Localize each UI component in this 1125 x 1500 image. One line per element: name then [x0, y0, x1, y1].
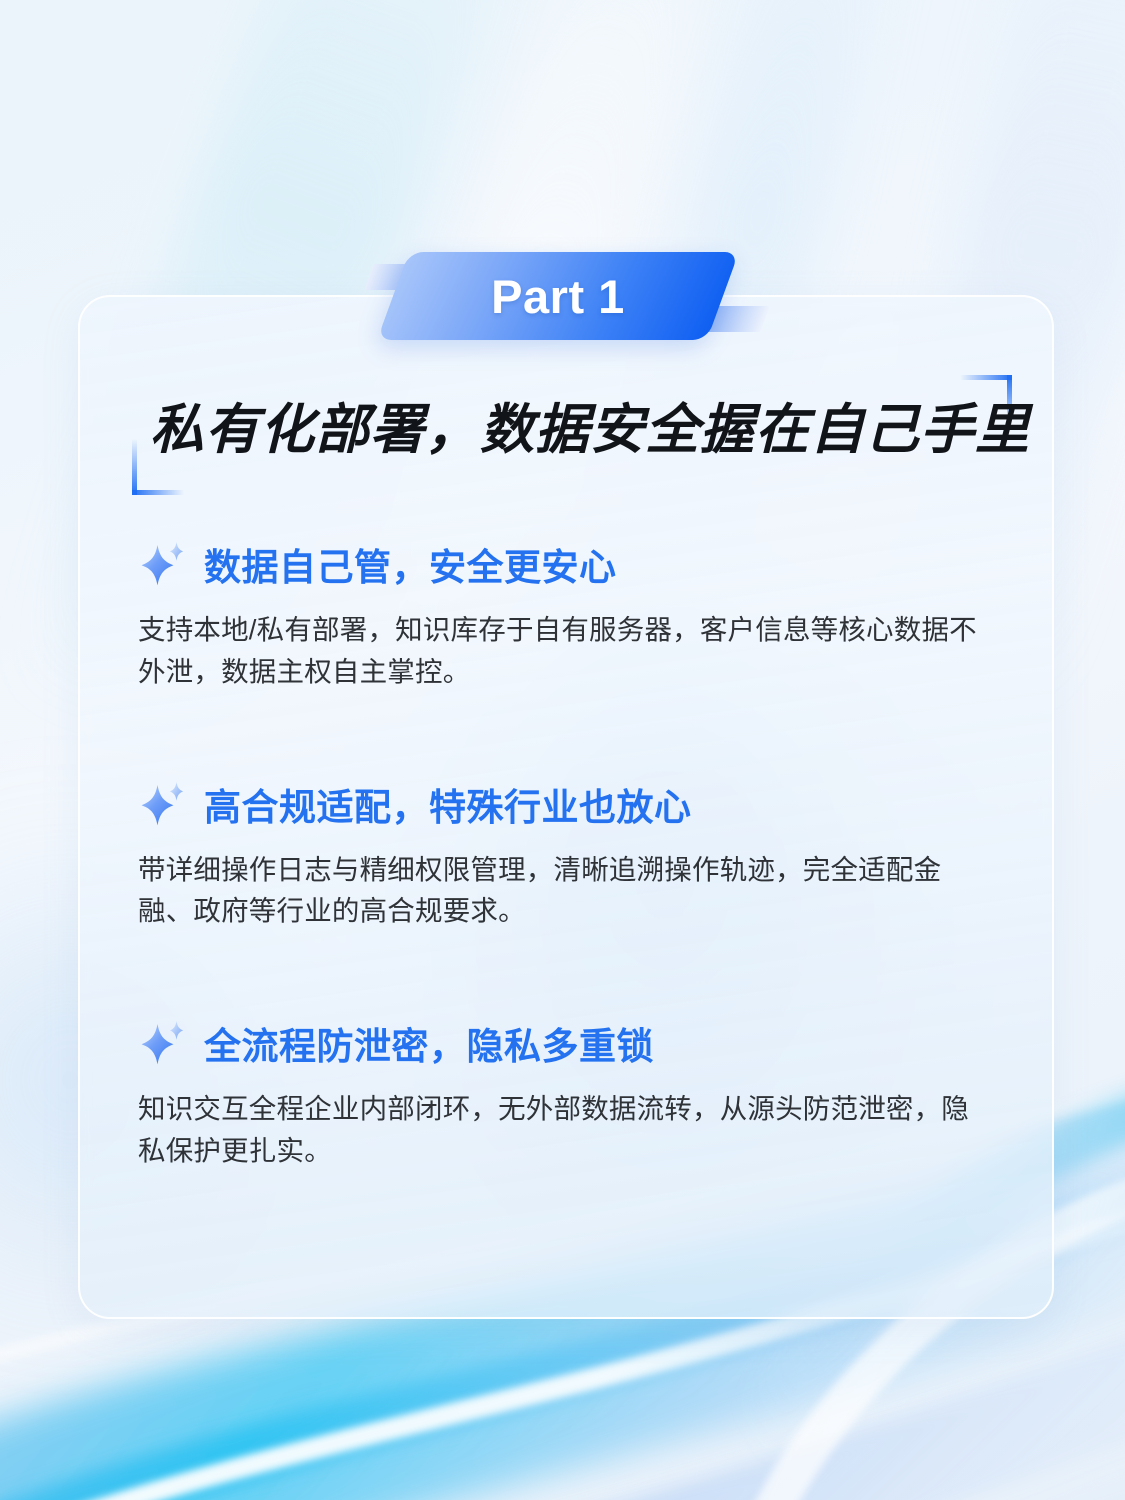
corner-bracket-bottom-left-icon	[132, 490, 184, 495]
sparkle-icon	[138, 779, 188, 829]
sparkle-icon	[138, 539, 188, 589]
feature-item: 高合规适配，特殊行业也放心 带详细操作日志与精细权限管理，清晰追溯操作轨迹，完全…	[138, 777, 1008, 933]
title-block: 私有化部署，数据安全握在自己手里	[132, 375, 1012, 495]
feature-list: 数据自己管，安全更安心 支持本地/私有部署，知识库存于自有服务器，客户信息等核心…	[138, 537, 1008, 1172]
feature-body: 带详细操作日志与精细权限管理，清晰追溯操作轨迹，完全适配金融、政府等行业的高合规…	[138, 849, 983, 933]
part-badge: Part 1	[365, 248, 765, 348]
poster-canvas: 私有化部署，数据安全握在自己手里	[0, 0, 1125, 1500]
corner-bracket-top-right-icon	[960, 375, 1012, 380]
feature-item: 数据自己管，安全更安心 支持本地/私有部署，知识库存于自有服务器，客户信息等核心…	[138, 537, 1008, 693]
feature-title: 数据自己管，安全更安心	[204, 537, 617, 591]
sparkle-icon	[138, 1018, 188, 1068]
feature-heading-row: 高合规适配，特殊行业也放心	[138, 777, 1008, 831]
feature-item: 全流程防泄密，隐私多重锁 知识交互全程企业内部闭环，无外部数据流转，从源头防范泄…	[138, 1016, 1008, 1172]
feature-heading-row: 全流程防泄密，隐私多重锁	[138, 1016, 1008, 1070]
feature-body: 知识交互全程企业内部闭环，无外部数据流转，从源头防范泄密，隐私保护更扎实。	[138, 1088, 983, 1172]
page-title: 私有化部署，数据安全握在自己手里	[150, 385, 1030, 464]
corner-bracket-bottom-left-icon	[132, 439, 137, 495]
feature-body: 支持本地/私有部署，知识库存于自有服务器，客户信息等核心数据不外泄，数据主权自主…	[138, 609, 983, 693]
feature-title: 全流程防泄密，隐私多重锁	[204, 1016, 654, 1070]
feature-title: 高合规适配，特殊行业也放心	[204, 777, 692, 831]
feature-heading-row: 数据自己管，安全更安心	[138, 537, 1008, 591]
badge-label: Part 1	[393, 252, 723, 340]
content-card: 私有化部署，数据安全握在自己手里	[78, 295, 1054, 1319]
